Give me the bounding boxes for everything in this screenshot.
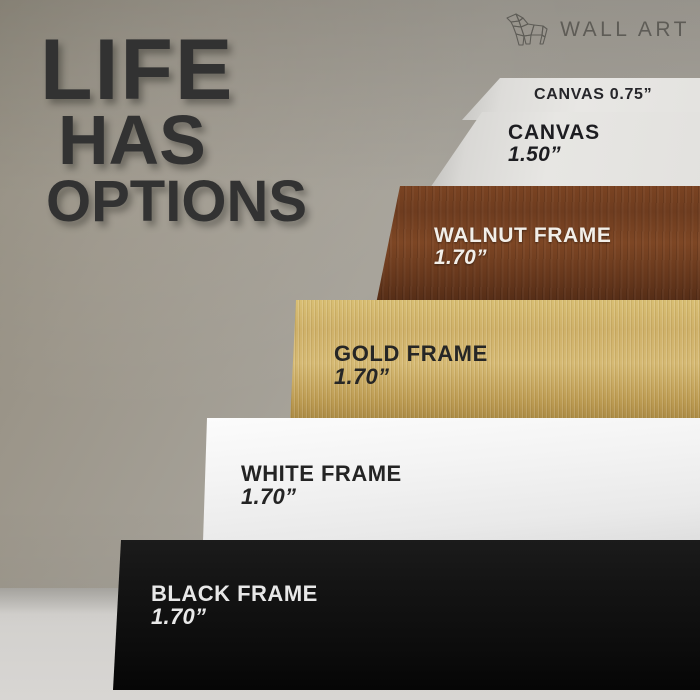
option-label-line1: WALNUT FRAME <box>434 225 612 247</box>
option-slab-gold-frame[interactable]: GOLD FRAME 1.70” <box>290 300 700 422</box>
promo-image: LIFE HAS OPTIONS WALL ART CANVAS <box>0 0 700 700</box>
option-label-line1: BLACK FRAME <box>151 582 318 605</box>
page-title: LIFE HAS OPTIONS <box>40 34 307 226</box>
option-label-gold-frame: GOLD FRAME 1.70” <box>334 342 488 389</box>
option-slab-walnut-frame[interactable]: WALNUT FRAME 1.70” <box>376 186 700 304</box>
origami-goat-icon <box>504 12 550 48</box>
brand-name: WALL ART <box>560 18 690 42</box>
option-label-line2: 1.70” <box>434 247 612 269</box>
option-slab-black-frame[interactable]: BLACK FRAME 1.70” <box>113 540 700 690</box>
headline-line-1: LIFE <box>40 34 307 107</box>
option-slab-white-frame[interactable]: WHITE FRAME 1.70” <box>203 418 700 542</box>
option-label-line1: CANVAS <box>508 122 600 144</box>
brand-logo: WALL ART <box>504 12 690 48</box>
option-label-line2: 1.50” <box>508 144 600 166</box>
option-label-line2: 1.70” <box>151 605 318 628</box>
option-label-line1: WHITE FRAME <box>241 462 402 485</box>
option-label-canvas-150: CANVAS 1.50” <box>508 122 600 167</box>
option-label-line1: CANVAS 0.75” <box>534 87 652 104</box>
headline-line-2: HAS <box>58 111 307 171</box>
option-label-line1: GOLD FRAME <box>334 342 488 365</box>
option-label-walnut-frame: WALNUT FRAME 1.70” <box>434 225 612 270</box>
option-label-line2: 1.70” <box>334 365 488 388</box>
option-label-line2: 1.70” <box>241 485 402 508</box>
option-label-canvas-075: CANVAS 0.75” <box>534 87 652 104</box>
option-label-black-frame: BLACK FRAME 1.70” <box>151 582 318 629</box>
option-label-white-frame: WHITE FRAME 1.70” <box>241 462 402 509</box>
headline-line-3: OPTIONS <box>46 177 307 226</box>
